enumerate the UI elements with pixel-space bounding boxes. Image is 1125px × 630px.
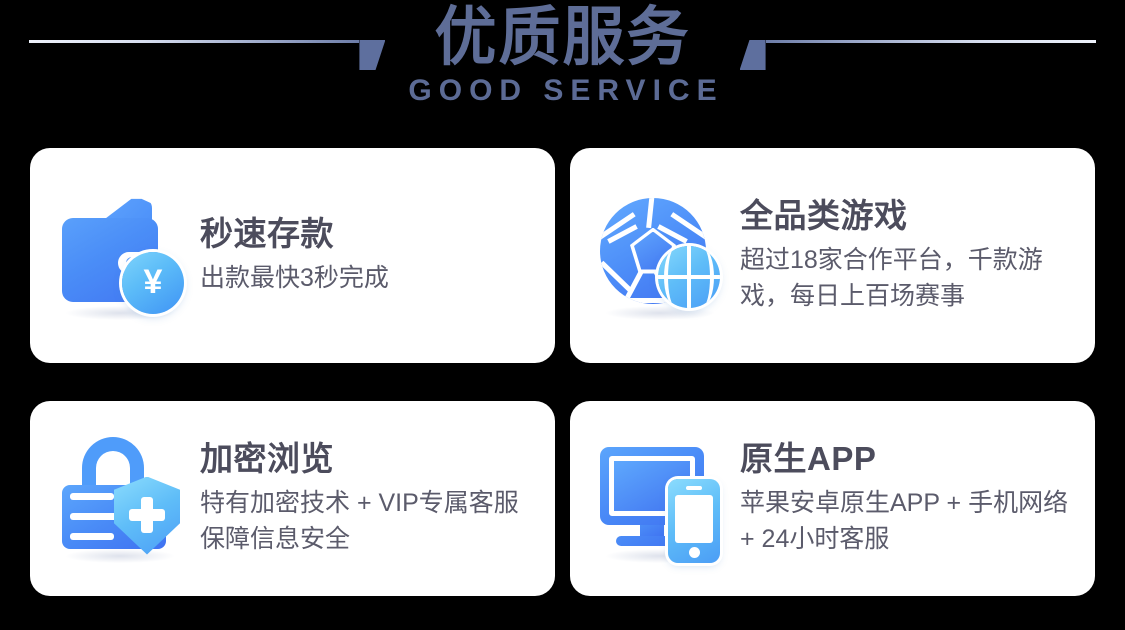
cross-horizontal (129, 509, 165, 521)
icon-shadow (66, 549, 174, 563)
promo-banner: 优质服务 GOOD SERVICE ¥ 秒速存款 (0, 0, 1125, 630)
decorative-line-left (29, 40, 397, 72)
card-description: 苹果安卓原生APP + 手机网络 + 24小时客服 (740, 485, 1073, 558)
monitor-phone-icon (596, 433, 732, 565)
deco-bar-left (29, 40, 359, 43)
lock-stripe (70, 533, 114, 540)
basketball-seam (692, 248, 714, 306)
soccer-basketball-icon (596, 190, 732, 322)
card-text-block: 加密浏览 特有加密技术 + VIP专属客服保障信息安全 (200, 440, 533, 557)
lock-stripe (70, 493, 114, 500)
page-subtitle: GOOD SERVICE (401, 76, 723, 106)
basketball-seam (664, 248, 686, 306)
feature-card-deposit[interactable]: ¥ 秒速存款 出款最快3秒完成 (30, 148, 555, 363)
phone-home-button (689, 547, 700, 558)
yen-symbol: ¥ (144, 265, 163, 299)
card-text-block: 全品类游戏 超过18家合作平台，千款游戏，每日上百场赛事 (740, 197, 1073, 314)
phone-speaker (686, 486, 702, 490)
phone-screen (675, 495, 713, 543)
card-description: 超过18家合作平台，千款游戏，每日上百场赛事 (740, 242, 1073, 315)
feature-card-encryption[interactable]: 加密浏览 特有加密技术 + VIP专属客服保障信息安全 (30, 401, 555, 596)
deco-slash-right (740, 40, 766, 70)
card-text-block: 原生APP 苹果安卓原生APP + 手机网络 + 24小时客服 (740, 440, 1073, 557)
deco-bar-right (766, 40, 1096, 43)
card-text-block: 秒速存款 出款最快3秒完成 (200, 215, 533, 296)
deco-slash-left (359, 40, 385, 70)
basketball-icon (658, 246, 720, 308)
yen-coin-icon: ¥ (122, 252, 184, 314)
smartphone-icon (668, 479, 720, 563)
ball-seam (600, 260, 632, 291)
decorative-line-right (728, 40, 1096, 72)
card-description: 出款最快3秒完成 (200, 260, 533, 296)
feature-card-games[interactable]: 全品类游戏 超过18家合作平台，千款游戏，每日上百场赛事 (570, 148, 1095, 363)
lock-shield-icon (56, 433, 192, 565)
card-description: 特有加密技术 + VIP专属客服保障信息安全 (200, 485, 533, 558)
feature-card-native-app[interactable]: 原生APP 苹果安卓原生APP + 手机网络 + 24小时客服 (570, 401, 1095, 596)
card-title: 全品类游戏 (740, 197, 1073, 236)
card-title: 加密浏览 (200, 440, 533, 479)
icon-shadow (606, 306, 714, 320)
card-title: 原生APP (740, 440, 1073, 479)
feature-card-grid: ¥ 秒速存款 出款最快3秒完成 (30, 148, 1095, 603)
banner-header: 优质服务 GOOD SERVICE (0, 0, 1125, 145)
card-title: 秒速存款 (200, 215, 533, 254)
page-title: 优质服务 (401, 5, 723, 71)
wallet-coin-icon: ¥ (56, 190, 192, 322)
ball-seam (646, 198, 655, 228)
title-block: 优质服务 GOOD SERVICE (397, 6, 727, 106)
